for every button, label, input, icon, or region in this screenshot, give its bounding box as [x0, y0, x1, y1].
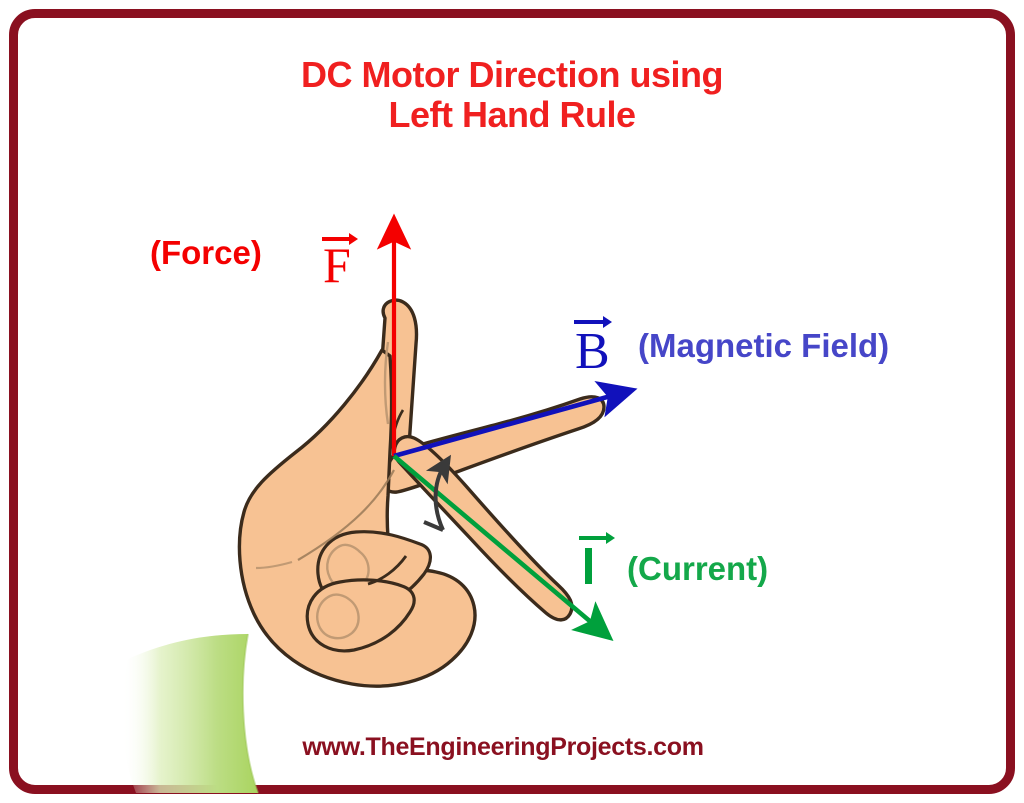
magnetic-field-label: (Magnetic Field) — [638, 327, 889, 365]
title-line-1: DC Motor Direction using — [0, 55, 1024, 95]
force-symbol: F — [318, 230, 360, 301]
svg-text:F: F — [323, 237, 351, 288]
current-symbol-glyph — [575, 528, 619, 588]
current-symbol — [575, 528, 619, 601]
svg-text:B: B — [575, 323, 610, 374]
diagram-canvas: DC Motor Direction using Left Hand Rule — [0, 0, 1024, 803]
magnetic-field-symbol: B — [570, 312, 618, 387]
current-label: (Current) — [627, 550, 768, 588]
magnetic-field-symbol-glyph: B — [570, 312, 618, 374]
title-line-2: Left Hand Rule — [0, 95, 1024, 135]
footer-website-url: www.TheEngineeringProjects.com — [0, 733, 1024, 762]
force-label: (Force) — [150, 234, 262, 272]
page-title: DC Motor Direction using Left Hand Rule — [0, 55, 1024, 136]
force-symbol-glyph: F — [318, 230, 360, 288]
